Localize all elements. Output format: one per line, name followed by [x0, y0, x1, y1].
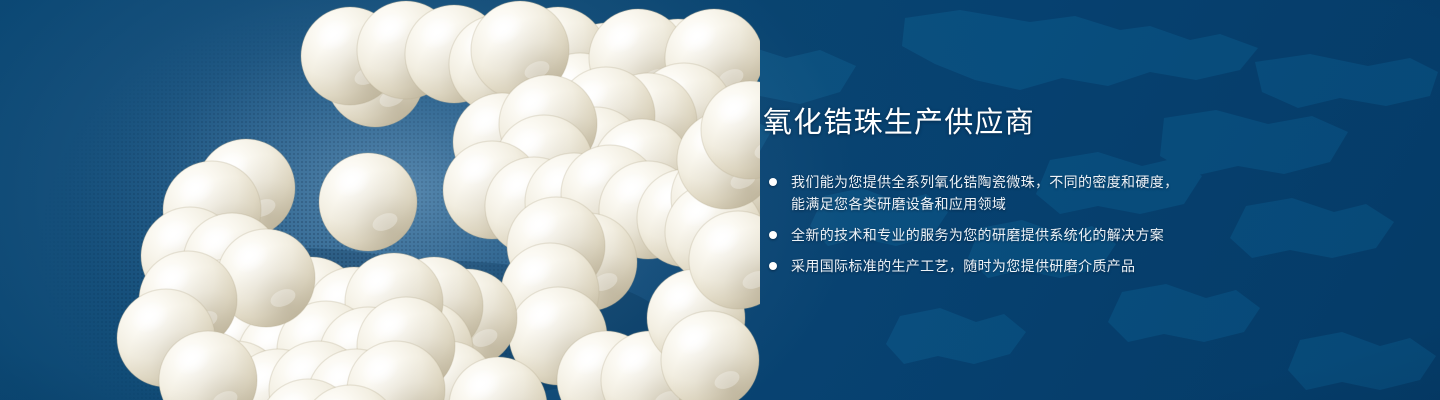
list-item: 全新的技术和专业的服务为您的研磨提供系统化的解决方案	[763, 224, 1233, 246]
bullet-text-line-1: 采用国际标准的生产工艺，随时为您提供研磨介质产品	[791, 255, 1233, 277]
hero-banner: 氧化锆珠生产供应商 我们能为您提供全系列氧化锆陶瓷微珠，不同的密度和硬度， 能满…	[0, 0, 1440, 400]
bullet-text-line-1: 全新的技术和专业的服务为您的研磨提供系统化的解决方案	[791, 224, 1233, 246]
bullet-dot-icon	[769, 262, 777, 270]
page-title: 氧化锆珠生产供应商	[763, 107, 1233, 141]
feature-bullet-list: 我们能为您提供全系列氧化锆陶瓷微珠，不同的密度和硬度， 能满足您各类研磨设备和应…	[763, 171, 1233, 277]
list-item: 采用国际标准的生产工艺，随时为您提供研磨介质产品	[763, 255, 1233, 277]
bullet-dot-icon	[769, 231, 777, 239]
list-item: 我们能为您提供全系列氧化锆陶瓷微珠，不同的密度和硬度， 能满足您各类研磨设备和应…	[763, 171, 1233, 215]
banner-copy-block: 氧化锆珠生产供应商 我们能为您提供全系列氧化锆陶瓷微珠，不同的密度和硬度， 能满…	[763, 107, 1233, 277]
bullet-text-line-1: 我们能为您提供全系列氧化锆陶瓷微珠，不同的密度和硬度，	[791, 171, 1233, 193]
bullet-text-line-2: 能满足您各类研磨设备和应用领域	[791, 193, 1233, 215]
bullet-dot-icon	[769, 178, 777, 186]
zirconia-bead-cluster-image	[0, 0, 760, 400]
